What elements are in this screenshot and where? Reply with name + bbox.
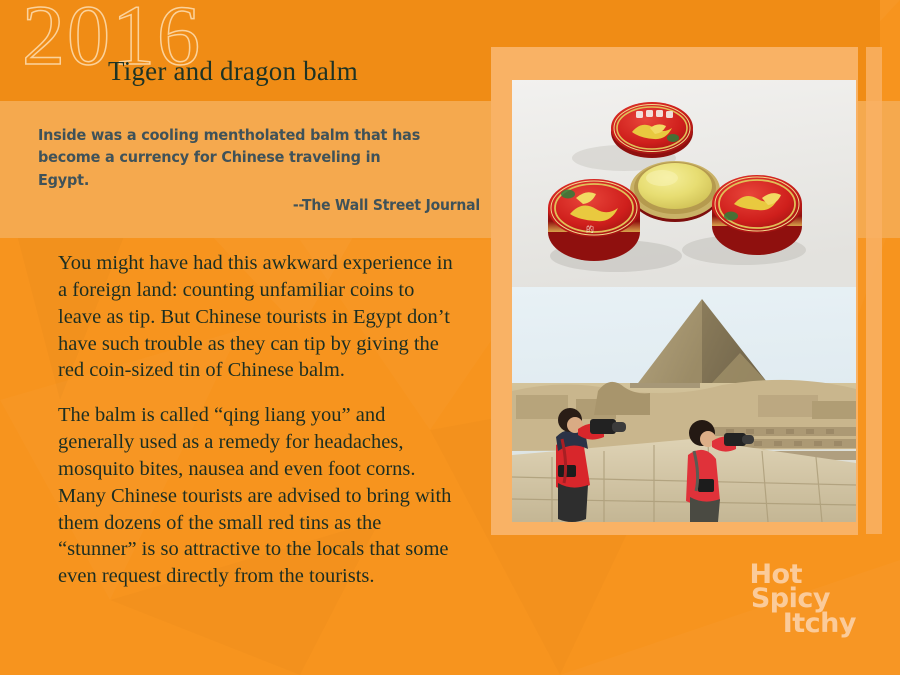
pull-quote-source: --The Wall Street Journal — [69, 196, 480, 214]
pyramid-tourists-photo — [512, 287, 856, 522]
pull-quote-text: Inside was a cooling mentholated balm th… — [38, 124, 429, 191]
page-title: Tiger and dragon balm — [108, 56, 358, 87]
photo-stack: 的 — [512, 80, 856, 522]
brand-logo: Hot Spicy Itchy — [749, 563, 856, 637]
svg-text:的: 的 — [586, 224, 594, 234]
body-paragraph-2: The balm is called “qing liang you” and … — [58, 402, 458, 590]
body-paragraph-1: You might have had this awkward experien… — [58, 250, 458, 384]
right-accent-bar — [866, 47, 882, 534]
logo-line-3: Itchy — [749, 612, 856, 637]
red-balm-tins-photo: 的 — [512, 80, 856, 287]
presentation-slide: 2016 Tiger and dragon balm Inside was a … — [0, 0, 900, 675]
body-copy: You might have had this awkward experien… — [58, 250, 458, 590]
